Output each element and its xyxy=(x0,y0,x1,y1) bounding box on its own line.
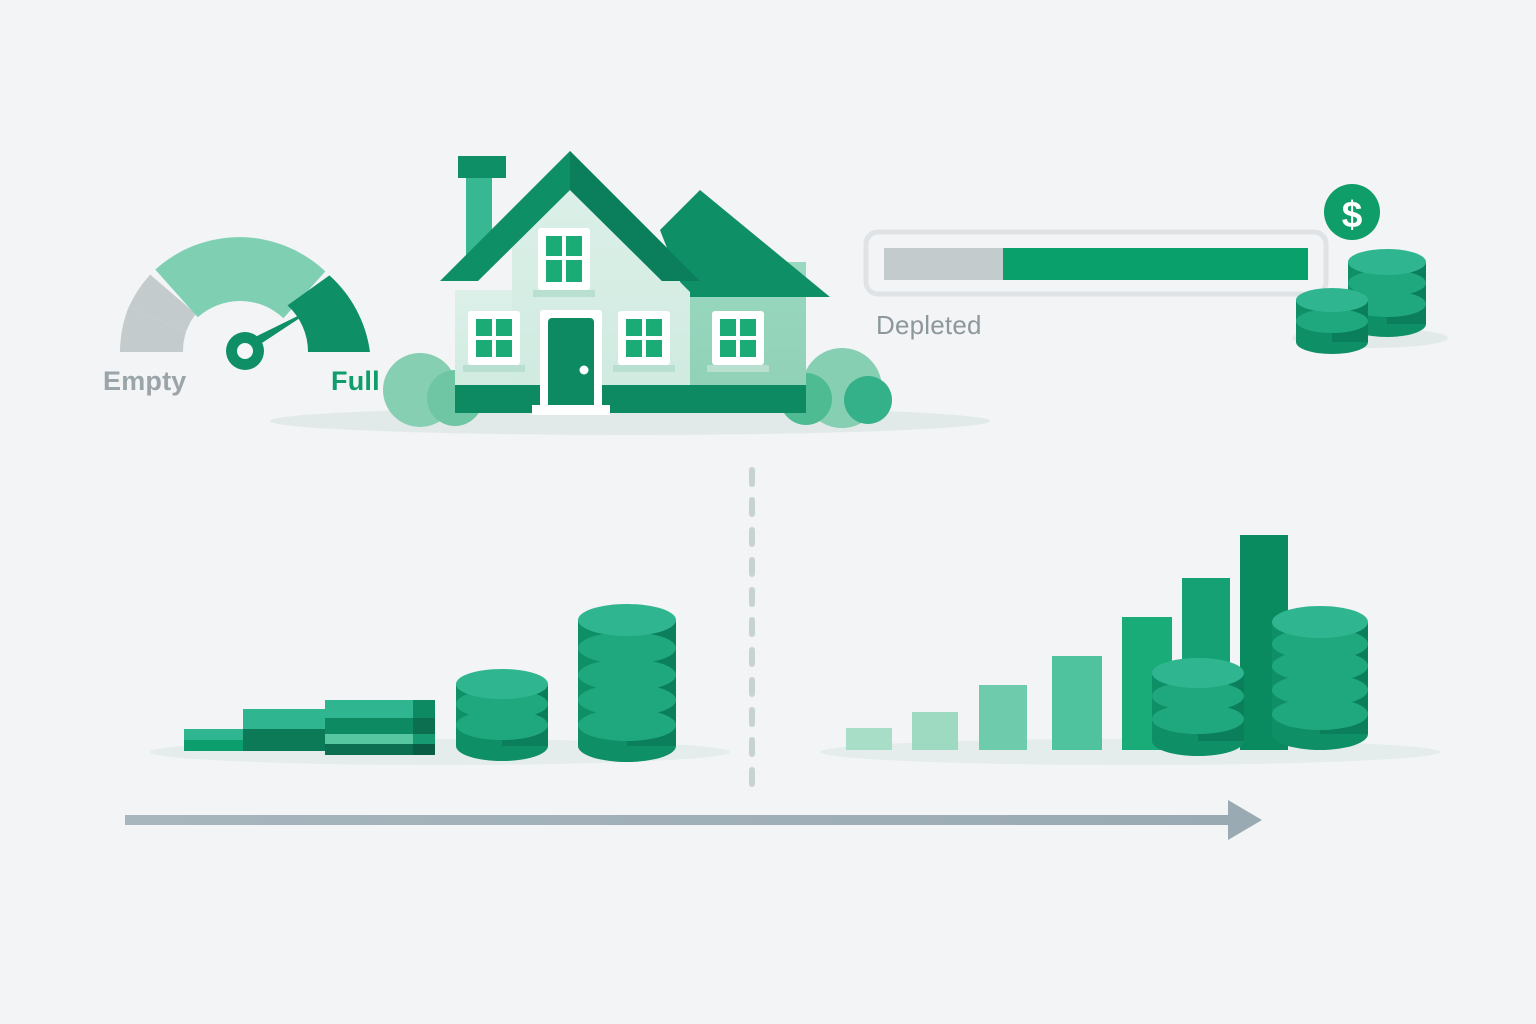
coin-top-right-back xyxy=(1272,606,1368,638)
house-left-wall-base xyxy=(455,385,512,413)
progress-fill xyxy=(1003,248,1308,280)
coin-stack-front xyxy=(1296,288,1368,354)
declining-savings-left xyxy=(150,604,730,765)
growth-bar-4 xyxy=(1052,656,1102,750)
growth-bar-2 xyxy=(912,712,958,750)
coin-top-back xyxy=(1348,249,1426,275)
coin-stack-right-front xyxy=(1152,658,1244,756)
scene-svg: $ xyxy=(0,0,1536,1024)
gauge-label-full: Full xyxy=(331,366,380,397)
time-arrow-head xyxy=(1228,800,1262,840)
window-left-sill xyxy=(463,365,525,372)
coin-stack-3 xyxy=(325,700,435,755)
coin-stack-right-back xyxy=(1272,606,1368,750)
window-mid-sill xyxy=(613,365,675,372)
illustration-canvas: $ xyxy=(0,0,1536,1024)
coin-band-f1 xyxy=(1296,309,1368,333)
door-panel xyxy=(548,318,594,413)
coin-top-stack4 xyxy=(456,669,548,699)
progress-label-depleted: Depleted xyxy=(876,310,982,341)
window-left-mullion-h xyxy=(476,336,512,340)
window-right-mullion-h xyxy=(720,336,756,340)
depletion-progress-bar[interactable] xyxy=(866,232,1326,294)
fuel-gauge xyxy=(120,237,370,370)
coin-top-front xyxy=(1296,288,1368,312)
bush-right-c xyxy=(844,376,892,424)
dormer-window-mullion-h xyxy=(546,256,582,260)
dollar-badge-symbol: $ xyxy=(1342,194,1363,235)
dormer-window-sill xyxy=(533,290,595,297)
growth-bar-1 xyxy=(846,728,892,750)
window-right-sill xyxy=(707,365,769,372)
coin-stack-4 xyxy=(456,669,548,761)
time-arrow-shaft xyxy=(125,815,1230,825)
chimney-cap xyxy=(458,156,506,178)
house-right-wall-base xyxy=(686,385,806,413)
door-knob xyxy=(580,366,589,375)
dollar-coin-badge: $ xyxy=(1324,184,1380,240)
time-arrow xyxy=(125,800,1262,840)
door-step xyxy=(532,405,610,415)
coin-top-right-front xyxy=(1152,658,1244,688)
gauge-label-empty: Empty xyxy=(103,366,187,397)
coin-stack-5 xyxy=(578,604,676,762)
growing-savings-right xyxy=(820,535,1440,765)
gauge-needle-hub-center xyxy=(237,343,253,359)
window-mid-mullion-h xyxy=(626,336,662,340)
coin-top-stack5 xyxy=(578,604,676,636)
growth-bar-3 xyxy=(979,685,1027,750)
